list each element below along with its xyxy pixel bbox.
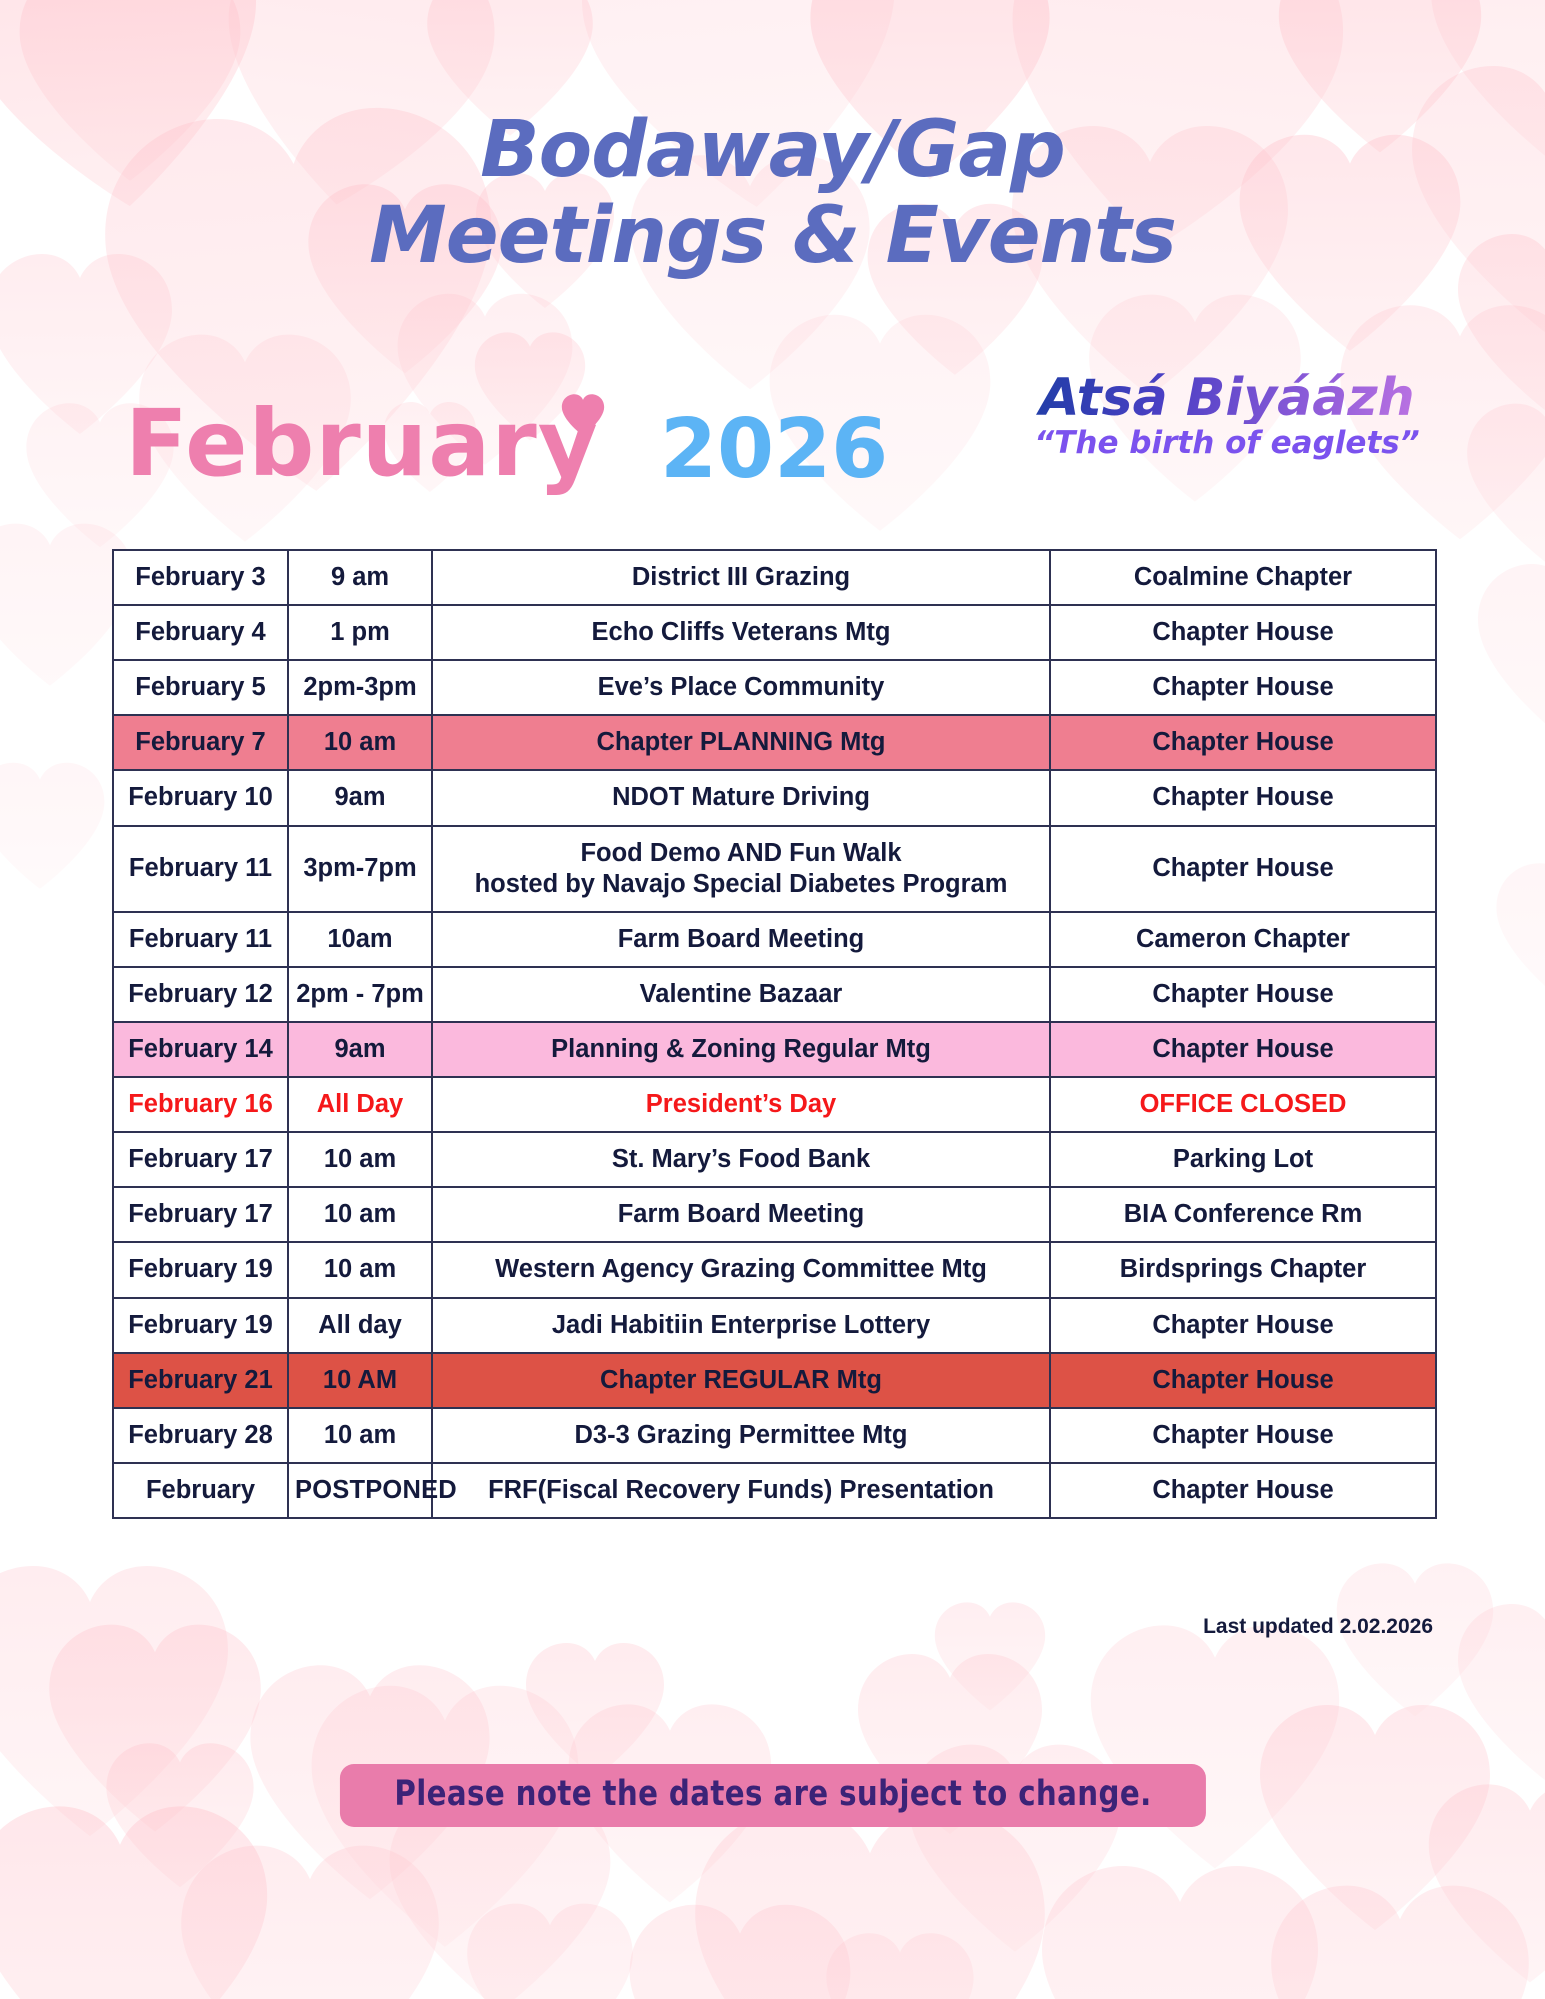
table-row: February 2110 AMChapter REGULAR MtgChapt… [113, 1353, 1436, 1408]
cell-location: Birdsprings Chapter [1050, 1242, 1436, 1297]
cell-location: Chapter House [1050, 1463, 1436, 1518]
cell-time: 10 am [288, 1187, 432, 1242]
cell-event: Western Agency Grazing Committee Mtg [432, 1242, 1050, 1297]
cell-location: Chapter House [1050, 770, 1436, 825]
table-row: February 1710 amFarm Board MeetingBIA Co… [113, 1187, 1436, 1242]
table-row: February 19All dayJadi Habitiin Enterpri… [113, 1298, 1436, 1353]
table-row: February 1110amFarm Board MeetingCameron… [113, 912, 1436, 967]
cell-time: 2pm - 7pm [288, 967, 432, 1022]
cell-date: February 7 [113, 715, 288, 770]
heart-icon [560, 393, 606, 437]
page-title: Bodaway/Gap Meetings & Events [0, 110, 1545, 278]
cell-time: 10 AM [288, 1353, 432, 1408]
cell-event: Food Demo AND Fun Walkhosted by Navajo S… [432, 826, 1050, 912]
cell-date: February 11 [113, 826, 288, 912]
cell-event: NDOT Mature Driving [432, 770, 1050, 825]
cell-time: 9 am [288, 550, 432, 605]
cell-location: Chapter House [1050, 1353, 1436, 1408]
schedule-table-wrapper: February 39 amDistrict III GrazingCoalmi… [112, 549, 1435, 1519]
cell-event: Farm Board Meeting [432, 1187, 1050, 1242]
table-row: February 149amPlanning & Zoning Regular … [113, 1022, 1436, 1077]
cell-date: February 14 [113, 1022, 288, 1077]
navajo-translation: “The birth of eaglets” [1017, 428, 1437, 459]
cell-event: Farm Board Meeting [432, 912, 1050, 967]
cell-date: February 11 [113, 912, 288, 967]
month-header-row: February 2026 Atsá Biyáázh “The birth of… [0, 388, 1545, 518]
cell-location: Chapter House [1050, 1408, 1436, 1463]
cell-location: OFFICE CLOSED [1050, 1077, 1436, 1132]
table-row: February 1710 amSt. Mary’s Food BankPark… [113, 1132, 1436, 1187]
disclaimer-banner: Please note the dates are subject to cha… [339, 1764, 1205, 1827]
cell-date: February 17 [113, 1187, 288, 1242]
cell-event: Eve’s Place Community [432, 660, 1050, 715]
cell-date: February 19 [113, 1298, 288, 1353]
table-row: February 39 amDistrict III GrazingCoalmi… [113, 550, 1436, 605]
table-row: FebruaryPOSTPONEDFRF(Fiscal Recovery Fun… [113, 1463, 1436, 1518]
cell-time: 2pm-3pm [288, 660, 432, 715]
navajo-name-block: Atsá Biyáázh “The birth of eaglets” [1017, 372, 1437, 459]
cell-date: February 19 [113, 1242, 288, 1297]
cell-location: Cameron Chapter [1050, 912, 1436, 967]
cell-time: POSTPONED [288, 1463, 432, 1518]
cell-location: Chapter House [1050, 715, 1436, 770]
schedule-table: February 39 amDistrict III GrazingCoalmi… [112, 549, 1437, 1519]
table-row: February 52pm-3pmEve’s Place CommunityCh… [113, 660, 1436, 715]
cell-date: February 17 [113, 1132, 288, 1187]
cell-date: February 5 [113, 660, 288, 715]
cell-location: Chapter House [1050, 826, 1436, 912]
table-row: February 122pm - 7pmValentine BazaarChap… [113, 967, 1436, 1022]
cell-event: Valentine Bazaar [432, 967, 1050, 1022]
cell-event: St. Mary’s Food Bank [432, 1132, 1050, 1187]
cell-date: February 10 [113, 770, 288, 825]
cell-date: February 12 [113, 967, 288, 1022]
cell-time: 1 pm [288, 605, 432, 660]
cell-location: Chapter House [1050, 1298, 1436, 1353]
cell-time: All Day [288, 1077, 432, 1132]
cell-event: Chapter PLANNING Mtg [432, 715, 1050, 770]
title-line-2: Meetings & Events [0, 196, 1545, 278]
cell-event: FRF(Fiscal Recovery Funds) Presentation [432, 1463, 1050, 1518]
year-label: 2026 [660, 402, 888, 497]
cell-time: 10am [288, 912, 432, 967]
cell-date: February 3 [113, 550, 288, 605]
table-row: February 710 amChapter PLANNING MtgChapt… [113, 715, 1436, 770]
cell-time: 9am [288, 1022, 432, 1077]
table-row: February 113pm-7pmFood Demo AND Fun Walk… [113, 826, 1436, 912]
cell-location: Chapter House [1050, 967, 1436, 1022]
month-label: February [125, 390, 599, 497]
cell-event: Echo Cliffs Veterans Mtg [432, 605, 1050, 660]
table-row: February 16All DayPresident’s DayOFFICE … [113, 1077, 1436, 1132]
cell-time: 3pm-7pm [288, 826, 432, 912]
last-updated-label: Last updated 2.02.2026 [1203, 1615, 1433, 1639]
cell-time: 10 am [288, 1408, 432, 1463]
cell-event: Planning & Zoning Regular Mtg [432, 1022, 1050, 1077]
cell-event: District III Grazing [432, 550, 1050, 605]
cell-location: Chapter House [1050, 605, 1436, 660]
cell-time: 10 am [288, 1242, 432, 1297]
cell-time: 10 am [288, 715, 432, 770]
cell-date: February 21 [113, 1353, 288, 1408]
cell-location: Coalmine Chapter [1050, 550, 1436, 605]
cell-event: Chapter REGULAR Mtg [432, 1353, 1050, 1408]
cell-date: February 16 [113, 1077, 288, 1132]
cell-date: February 28 [113, 1408, 288, 1463]
table-row: February 2810 amD3-3 Grazing Permittee M… [113, 1408, 1436, 1463]
navajo-name: Atsá Biyáázh [1017, 372, 1437, 424]
cell-event: President’s Day [432, 1077, 1050, 1132]
cell-time: 10 am [288, 1132, 432, 1187]
cell-event: Jadi Habitiin Enterprise Lottery [432, 1298, 1050, 1353]
cell-location: BIA Conference Rm [1050, 1187, 1436, 1242]
cell-event: D3-3 Grazing Permittee Mtg [432, 1408, 1050, 1463]
cell-time: 9am [288, 770, 432, 825]
cell-location: Chapter House [1050, 1022, 1436, 1077]
cell-date: February [113, 1463, 288, 1518]
cell-time: All day [288, 1298, 432, 1353]
table-row: February 1910 amWestern Agency Grazing C… [113, 1242, 1436, 1297]
disclaimer-text: Please note the dates are subject to cha… [394, 1774, 1151, 1814]
title-line-1: Bodaway/Gap [0, 110, 1545, 192]
flyer-page: Bodaway/Gap Meetings & Events February 2… [0, 0, 1545, 1999]
cell-date: February 4 [113, 605, 288, 660]
cell-location: Parking Lot [1050, 1132, 1436, 1187]
table-row: February 109amNDOT Mature DrivingChapter… [113, 770, 1436, 825]
table-row: February 41 pmEcho Cliffs Veterans MtgCh… [113, 605, 1436, 660]
cell-location: Chapter House [1050, 660, 1436, 715]
